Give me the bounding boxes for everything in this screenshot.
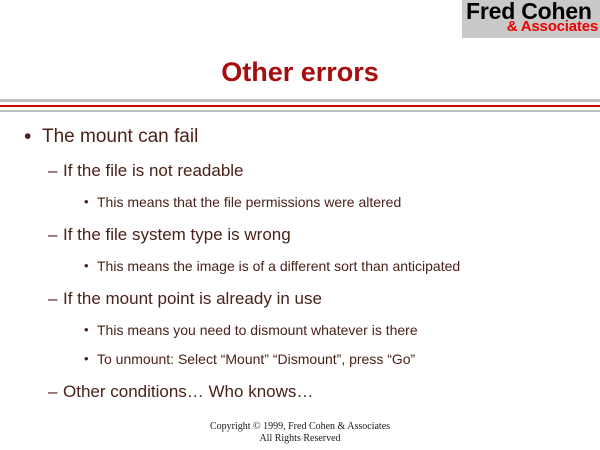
bullet-marker-level2: –: [48, 159, 63, 183]
bullet-level3: • This means that the file permissions w…: [0, 191, 600, 213]
bullet-marker-level2: –: [48, 380, 63, 404]
divider-rule-gray-bottom: [0, 110, 600, 112]
bullet-text: This means the image is of a different s…: [97, 255, 517, 276]
spacer: [0, 215, 600, 223]
bullet-text: To unmount: Select “Mount” “Dismount”, p…: [97, 348, 517, 369]
bullet-level2: – Other conditions… Who knows…: [0, 380, 600, 404]
bullet-marker-level3: •: [84, 191, 97, 213]
company-logo: Fred Cohen & Associates: [462, 0, 600, 38]
spacer: [0, 372, 600, 380]
spacer: [0, 279, 600, 287]
bullet-marker-level3: •: [84, 255, 97, 277]
bullet-text: This means you need to dismount whatever…: [97, 319, 517, 340]
bullet-text: This means that the file permissions wer…: [97, 191, 517, 212]
bullet-level1: • The mount can fail: [0, 124, 600, 150]
bullet-level3: • To unmount: Select “Mount” “Dismount”,…: [0, 348, 600, 370]
bullet-level3: • This means the image is of a different…: [0, 255, 600, 277]
bullet-marker-level3: •: [84, 348, 97, 370]
slide-body: • The mount can fail – If the file is no…: [0, 124, 600, 407]
bullet-text: If the file system type is wrong: [63, 223, 600, 247]
bullet-marker-level2: –: [48, 287, 63, 311]
bullet-level3: • This means you need to dismount whatev…: [0, 319, 600, 341]
logo-secondary-text: & Associates: [507, 19, 598, 35]
copyright-footer: Copyright © 1999, Fred Cohen & Associate…: [0, 421, 600, 445]
bullet-level2: – If the mount point is already in use: [0, 287, 600, 311]
footer-line-copyright: Copyright © 1999, Fred Cohen & Associate…: [0, 421, 600, 433]
bullet-text: If the mount point is already in use: [63, 287, 600, 311]
bullet-level2: – If the file system type is wrong: [0, 223, 600, 247]
bullet-text: The mount can fail: [42, 124, 600, 150]
title-divider: [0, 99, 600, 115]
divider-rule-gray-top: [0, 99, 600, 102]
bullet-level2: – If the file is not readable: [0, 159, 600, 183]
bullet-marker-level2: –: [48, 223, 63, 247]
bullet-marker-level1: •: [24, 124, 42, 150]
bullet-marker-level3: •: [84, 319, 97, 341]
bullet-text: If the file is not readable: [63, 159, 600, 183]
divider-rule-red: [0, 105, 600, 107]
footer-line-rights: All Rights Reserved: [0, 433, 600, 445]
slide-title: Other errors: [0, 56, 600, 88]
bullet-text: Other conditions… Who knows…: [63, 380, 600, 404]
